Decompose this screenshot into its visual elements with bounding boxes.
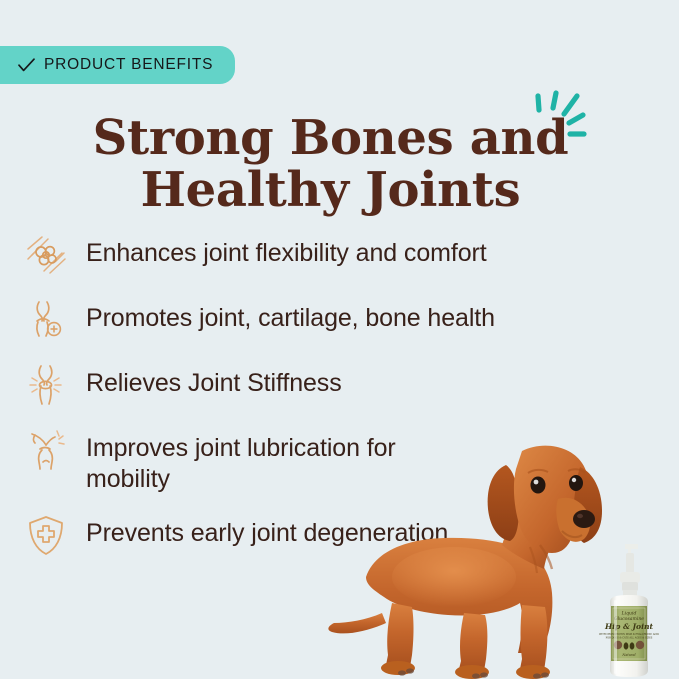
benefit-label: Improves joint lubrication for mobility — [86, 427, 486, 495]
benefit-item: Relieves Joint Stiffness — [22, 362, 622, 410]
benefit-item: Enhances joint flexibility and comfort — [22, 232, 622, 280]
benefit-label: Enhances joint flexibility and comfort — [86, 232, 487, 269]
shield-plus-icon — [22, 511, 70, 559]
benefit-label: Relieves Joint Stiffness — [86, 362, 342, 399]
benefit-item: Improves joint lubrication for mobility — [22, 427, 622, 495]
bottle-product-name: Hip & Joint — [604, 622, 654, 631]
badge-label: PRODUCT BENEFITS — [44, 57, 213, 73]
joint-relief-icon — [22, 361, 70, 409]
headline-line-2: Healthy Joints — [0, 164, 661, 216]
infographic-canvas: PRODUCT BENEFITS Strong Bones and Health… — [0, 0, 679, 679]
headline: Strong Bones and Healthy Joints — [0, 112, 679, 216]
product-benefits-badge: PRODUCT BENEFITS — [0, 46, 235, 84]
bottle-tagline-1: WITH CHONDROITIN MSM & HYALURONIC ACID — [599, 633, 659, 636]
cartilage-mesh-icon — [22, 231, 70, 279]
bottle-natural-label: Natural — [621, 653, 635, 657]
benefit-label: Prevents early joint degeneration — [86, 512, 448, 549]
knee-joint-icon — [22, 296, 70, 344]
check-icon — [18, 58, 35, 73]
benefit-label: Promotes joint, cartilage, bone health — [86, 297, 495, 334]
headline-line-1: Strong Bones and — [0, 112, 661, 164]
benefit-item: Promotes joint, cartilage, bone health — [22, 297, 622, 345]
bottle-ingredient-line: Glucosamine — [614, 616, 644, 622]
benefit-item: Prevents early joint degeneration — [22, 512, 622, 560]
bottle-tagline-2: FOR DOGS & CATS ALL AGES & SIZES — [606, 637, 653, 640]
benefits-list: Enhances joint flexibility and comfort P — [22, 232, 622, 577]
bottle-brand-line: Liquid — [621, 611, 637, 617]
joint-mobility-icon — [22, 426, 70, 474]
